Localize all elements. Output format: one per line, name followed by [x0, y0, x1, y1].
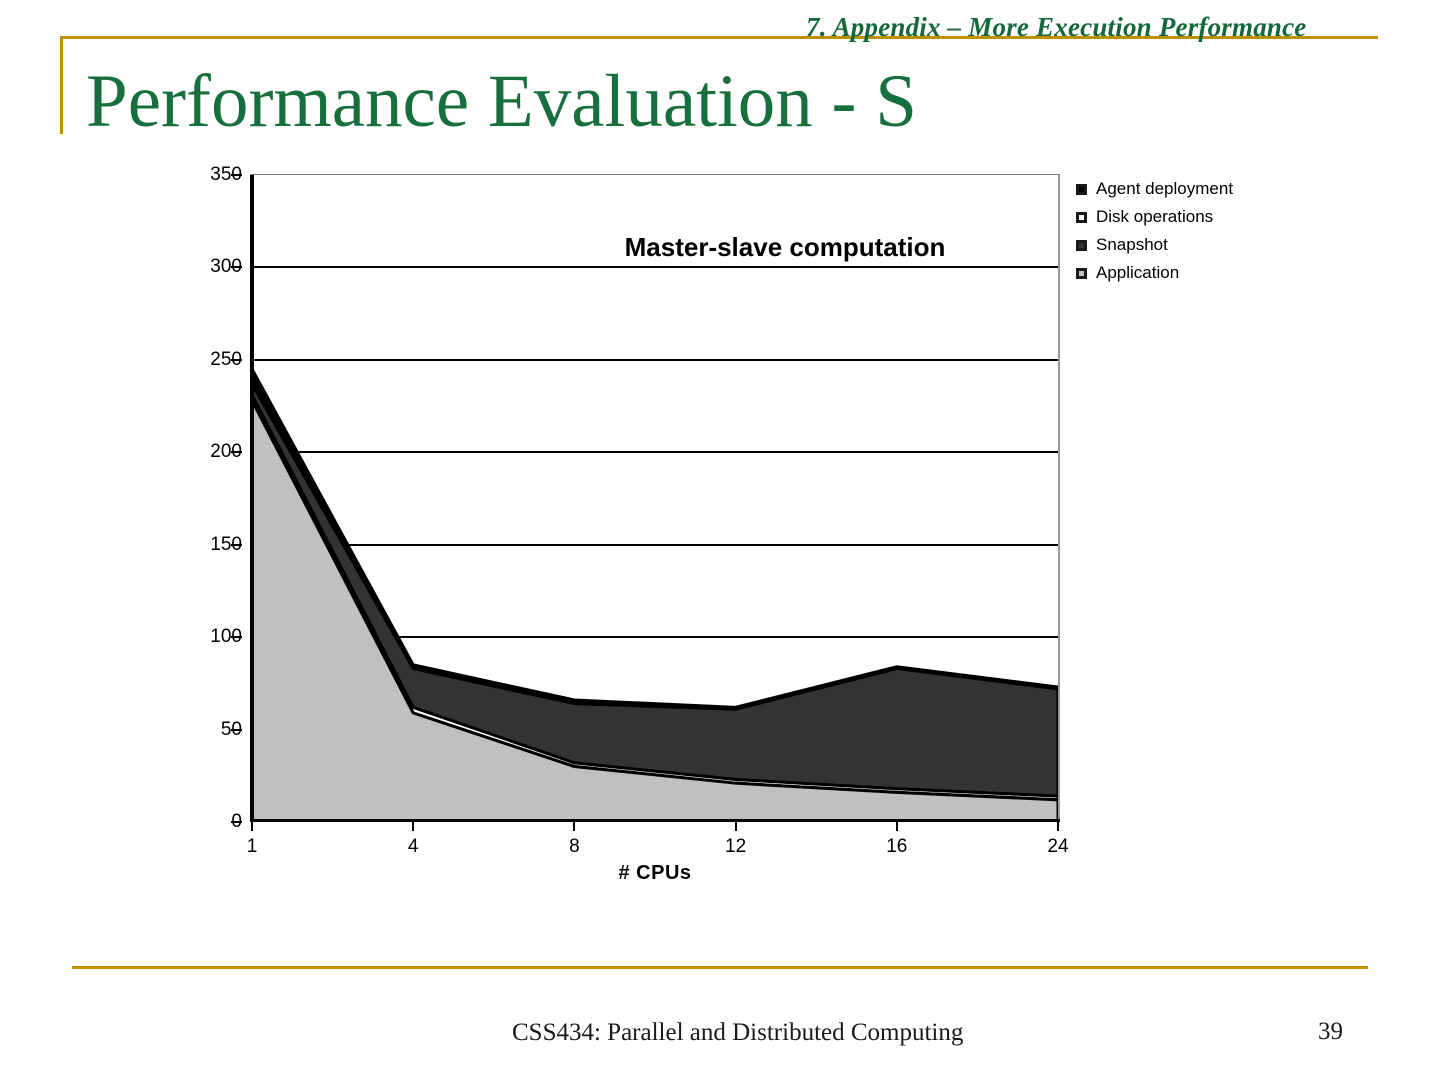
chart-container: 050100150200250300350 Master-slave compu…	[190, 160, 1310, 900]
legend-swatch-icon	[1076, 212, 1087, 223]
x-tick-mark	[412, 822, 414, 831]
plot-area	[250, 175, 1060, 822]
legend-item[interactable]: Agent deployment	[1076, 175, 1306, 203]
legend-item[interactable]: Snapshot	[1076, 231, 1306, 259]
legend-swatch-icon	[1076, 268, 1087, 279]
footer-course-label: CSS434: Parallel and Distributed Computi…	[512, 1018, 1072, 1048]
y-tick-mark	[231, 544, 242, 546]
legend-swatch-icon	[1076, 184, 1087, 195]
y-tick-mark	[231, 729, 242, 731]
plot-wrapper	[250, 175, 1060, 822]
y-tick-mark	[231, 174, 242, 176]
x-tick-mark	[573, 822, 575, 831]
slide-bottom-rule	[72, 966, 1368, 969]
x-axis: 148121624	[250, 830, 1060, 860]
legend-label: Snapshot	[1096, 235, 1168, 255]
y-tick-mark	[231, 266, 242, 268]
x-tick-mark	[251, 822, 253, 831]
legend-label: Disk operations	[1096, 207, 1213, 227]
x-tick-label: 16	[886, 836, 907, 858]
x-axis-title: # CPUs	[250, 862, 1060, 885]
x-tick-label: 24	[1047, 836, 1068, 858]
plot-frame-bottom	[250, 819, 1060, 822]
x-tick-mark	[1057, 822, 1059, 831]
y-tick-mark	[231, 451, 242, 453]
stacked-area-series	[250, 175, 1060, 822]
slide-left-bracket	[60, 36, 63, 134]
legend-item[interactable]: Application	[1076, 259, 1306, 287]
y-axis: 050100150200250300350	[190, 175, 242, 822]
legend-item[interactable]: Disk operations	[1076, 203, 1306, 231]
x-tick-label: 8	[569, 836, 580, 858]
x-tick-mark	[896, 822, 898, 831]
x-tick-label: 1	[247, 836, 258, 858]
legend-swatch-icon	[1076, 240, 1087, 251]
x-tick-label: 12	[725, 836, 746, 858]
chart-title: Master-slave computation	[550, 232, 1020, 263]
x-tick-label: 4	[408, 836, 419, 858]
legend-label: Application	[1096, 263, 1179, 283]
footer-page-number: 39	[1318, 1018, 1343, 1046]
chart-legend: Agent deploymentDisk operationsSnapshotA…	[1076, 175, 1306, 287]
x-tick-mark	[735, 822, 737, 831]
y-tick-mark	[231, 636, 242, 638]
y-tick-mark	[231, 821, 242, 823]
plot-frame-right	[1058, 175, 1060, 822]
plot-frame-left	[250, 175, 254, 822]
legend-label: Agent deployment	[1096, 179, 1233, 199]
y-tick-mark	[231, 359, 242, 361]
section-kicker: 7. Appendix – More Execution Performance	[806, 8, 1366, 46]
page-title: Performance Evaluation - S	[86, 52, 1206, 152]
